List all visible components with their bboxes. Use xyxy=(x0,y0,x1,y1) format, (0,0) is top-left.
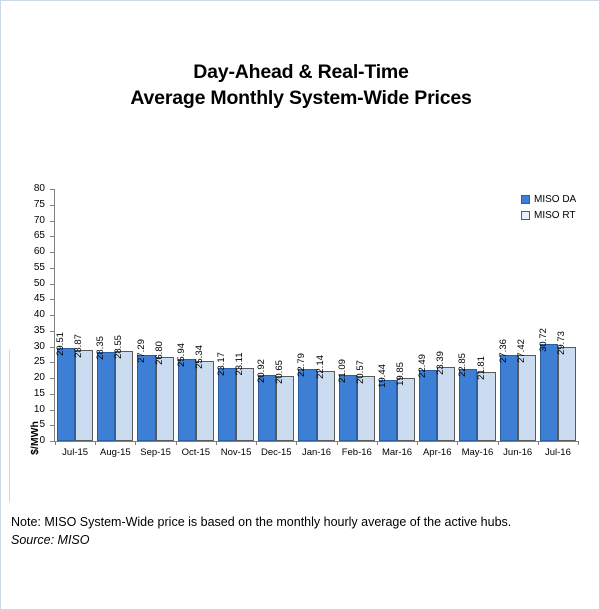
legend-swatch-icon-rt xyxy=(521,211,530,220)
bar-miso-da[interactable]: 25.94 xyxy=(178,359,196,441)
y-axis-tick-label: 30 xyxy=(34,340,45,353)
x-axis-tick-mark xyxy=(135,441,136,445)
y-axis-tick-label: 75 xyxy=(34,198,45,211)
bar-value-label: 22.85 xyxy=(457,353,468,377)
footer-notes: Note: MISO System-Wide price is based on… xyxy=(11,513,591,549)
x-axis-tick-mark xyxy=(377,441,378,445)
x-axis-tick-mark xyxy=(578,441,579,445)
bar-value-label: 28.87 xyxy=(73,334,84,358)
bar-value-label: 29.51 xyxy=(55,332,66,356)
y-axis-tick-label: 5 xyxy=(39,418,45,431)
y-axis-tick: 60 xyxy=(9,252,54,253)
bar-value-label: 27.42 xyxy=(516,339,527,363)
y-axis-tick-label: 60 xyxy=(34,245,45,258)
bar-miso-da[interactable]: 28.35 xyxy=(97,352,115,441)
x-axis-label: Nov-15 xyxy=(216,447,256,458)
x-axis-labels: Jul-15Aug-15Sep-15Oct-15Nov-15Dec-15Jan-… xyxy=(55,447,578,458)
x-axis-label: Mar-16 xyxy=(377,447,417,458)
y-axis-tick: 55 xyxy=(9,268,54,269)
bar-value-label: 20.65 xyxy=(274,360,285,384)
y-axis-tick-label: 50 xyxy=(34,277,45,290)
chart-container: $/MWh 80757065605550454035302520151050 2… xyxy=(9,151,593,496)
y-axis-tick-label: 70 xyxy=(34,214,45,227)
y-axis-tick: 15 xyxy=(9,394,54,395)
y-axis-tick: 30 xyxy=(9,347,54,348)
y-axis-tick: 70 xyxy=(9,221,54,222)
bar-miso-rt[interactable]: 20.65 xyxy=(276,376,294,441)
x-axis-tick-mark xyxy=(95,441,96,445)
bar-miso-rt[interactable]: 20.57 xyxy=(357,376,375,441)
bar-miso-da[interactable]: 22.49 xyxy=(419,370,437,441)
y-axis-tick-label: 15 xyxy=(34,387,45,400)
y-axis-tick: 5 xyxy=(9,425,54,426)
bar-value-label: 26.80 xyxy=(154,341,165,365)
bar-value-label: 28.55 xyxy=(113,335,124,359)
x-axis-tick-mark xyxy=(296,441,297,445)
legend-swatch-icon-da xyxy=(521,195,530,204)
x-axis-label: Apr-16 xyxy=(417,447,457,458)
bar-miso-rt[interactable]: 23.39 xyxy=(437,367,455,441)
bar-value-label: 21.09 xyxy=(337,359,348,383)
x-axis-tick-mark xyxy=(176,441,177,445)
y-axis-tick: 10 xyxy=(9,410,54,411)
bar-miso-da[interactable]: 20.92 xyxy=(258,375,276,441)
legend-label-da: MISO DA xyxy=(534,194,576,205)
bar-group: 20.9220.65 xyxy=(256,189,296,441)
bar-value-label: 22.49 xyxy=(417,354,428,378)
x-axis-label: Feb-16 xyxy=(337,447,377,458)
x-axis-tick-mark xyxy=(417,441,418,445)
y-axis-tick-label: 80 xyxy=(34,182,45,195)
x-axis-tick-mark xyxy=(337,441,338,445)
bar-group: 22.7922.14 xyxy=(296,189,336,441)
bar-miso-rt[interactable]: 25.34 xyxy=(196,361,214,441)
x-axis-tick-mark xyxy=(55,441,56,445)
bar-miso-rt[interactable]: 26.80 xyxy=(156,357,174,441)
bar-value-label: 27.36 xyxy=(498,339,509,363)
y-axis-tick-label: 10 xyxy=(34,403,45,416)
page-title: Day-Ahead & Real-Time Average Monthly Sy… xyxy=(1,59,600,111)
x-axis-label: Dec-15 xyxy=(256,447,296,458)
x-axis-label: Jan-16 xyxy=(296,447,336,458)
bar-value-label: 19.85 xyxy=(395,363,406,387)
title-line-2: Average Monthly System-Wide Prices xyxy=(1,85,600,111)
section-divider xyxy=(9,350,10,502)
bar-miso-da[interactable]: 29.51 xyxy=(57,348,75,441)
bar-group: 28.3528.55 xyxy=(95,189,135,441)
bar-value-label: 23.39 xyxy=(435,351,446,375)
bar-miso-rt[interactable]: 27.42 xyxy=(518,355,536,441)
y-axis-tick: 0 xyxy=(9,441,54,442)
bar-group: 22.4923.39 xyxy=(417,189,457,441)
y-axis-tick: 45 xyxy=(9,299,54,300)
legend-label-rt: MISO RT xyxy=(534,210,575,221)
bar-miso-rt[interactable]: 28.87 xyxy=(75,350,93,441)
chart-legend: MISO DA MISO RT xyxy=(521,191,600,223)
bar-value-label: 21.81 xyxy=(476,356,487,380)
y-axis-tick: 20 xyxy=(9,378,54,379)
bar-group: 19.4419.85 xyxy=(377,189,417,441)
x-axis-tick-mark xyxy=(538,441,539,445)
x-axis-label: Jul-15 xyxy=(55,447,95,458)
legend-item-miso-rt[interactable]: MISO RT xyxy=(521,207,600,223)
bar-miso-da[interactable]: 27.29 xyxy=(137,355,155,441)
bar-value-label: 25.34 xyxy=(194,345,205,369)
bar-value-label: 23.17 xyxy=(216,352,227,376)
x-axis-tick-mark xyxy=(216,441,217,445)
bar-value-label: 22.79 xyxy=(296,353,307,377)
bar-value-label: 20.92 xyxy=(256,359,267,383)
source-text: Source: MISO xyxy=(11,531,591,549)
legend-item-miso-da[interactable]: MISO DA xyxy=(521,191,600,207)
y-axis-tick-label: 65 xyxy=(34,229,45,242)
y-axis-tick-label: 45 xyxy=(34,292,45,305)
y-axis-tick-label: 40 xyxy=(34,308,45,321)
y-axis-tick: 50 xyxy=(9,284,54,285)
bar-group: 30.7229.73 xyxy=(538,189,578,441)
x-axis-tick-mark xyxy=(256,441,257,445)
bar-miso-da[interactable]: 27.36 xyxy=(500,355,518,441)
y-axis-tick-label: 20 xyxy=(34,371,45,384)
bar-value-label: 25.94 xyxy=(176,343,187,367)
bar-group: 29.5128.87 xyxy=(55,189,95,441)
bar-miso-da[interactable]: 21.09 xyxy=(339,375,357,441)
y-axis-tick-label: 55 xyxy=(34,261,45,274)
bar-value-label: 23.11 xyxy=(234,353,245,376)
chart-page: Day-Ahead & Real-Time Average Monthly Sy… xyxy=(0,0,600,610)
bar-miso-rt[interactable]: 22.14 xyxy=(317,371,335,441)
y-axis-tick: 65 xyxy=(9,236,54,237)
bar-group: 27.3627.42 xyxy=(498,189,538,441)
title-line-1: Day-Ahead & Real-Time xyxy=(1,59,600,85)
bar-groups: 29.5128.8728.3528.5527.2926.8025.9425.34… xyxy=(55,189,578,441)
bar-miso-rt[interactable]: 19.85 xyxy=(397,378,415,441)
bar-value-label: 27.29 xyxy=(136,339,147,363)
note-text: Note: MISO System-Wide price is based on… xyxy=(11,513,591,531)
bar-miso-rt[interactable]: 28.55 xyxy=(115,351,133,441)
y-axis-tick: 25 xyxy=(9,362,54,363)
bar-group: 25.9425.34 xyxy=(176,189,216,441)
bar-value-label: 29.73 xyxy=(556,331,567,355)
bar-miso-da[interactable]: 22.79 xyxy=(298,369,316,441)
bar-miso-da[interactable]: 30.72 xyxy=(540,344,558,441)
bar-miso-rt[interactable]: 21.81 xyxy=(477,372,495,441)
bar-group: 23.1723.11 xyxy=(216,189,256,441)
bar-group: 27.2926.80 xyxy=(135,189,175,441)
x-axis-tick-mark xyxy=(498,441,499,445)
y-axis-tick: 75 xyxy=(9,205,54,206)
bar-value-label: 22.14 xyxy=(315,355,326,379)
y-axis-tick: 80 xyxy=(9,189,54,190)
y-axis-tick: 40 xyxy=(9,315,54,316)
bar-value-label: 19.44 xyxy=(377,364,388,388)
bar-miso-rt[interactable]: 23.11 xyxy=(236,368,254,441)
y-axis-tick-label: 25 xyxy=(34,355,45,368)
x-axis-tick-mark xyxy=(457,441,458,445)
bar-value-label: 30.72 xyxy=(538,328,549,352)
x-axis-label: Jun-16 xyxy=(498,447,538,458)
bar-miso-da[interactable]: 22.85 xyxy=(459,369,477,441)
bar-value-label: 28.35 xyxy=(95,336,106,360)
x-axis-label: Aug-15 xyxy=(95,447,135,458)
bar-miso-da[interactable]: 23.17 xyxy=(218,368,236,441)
x-axis-line xyxy=(54,441,578,442)
x-axis-label: Jul-16 xyxy=(538,447,578,458)
bar-miso-da[interactable]: 19.44 xyxy=(379,380,397,441)
bar-group: 22.8521.81 xyxy=(457,189,497,441)
x-axis-label: May-16 xyxy=(457,447,497,458)
y-axis-tick-label: 35 xyxy=(34,324,45,337)
y-axis-tick: 35 xyxy=(9,331,54,332)
x-axis-label: Sep-15 xyxy=(135,447,175,458)
bar-miso-rt[interactable]: 29.73 xyxy=(558,347,576,441)
bar-group: 21.0920.57 xyxy=(337,189,377,441)
bar-value-label: 20.57 xyxy=(355,360,366,384)
x-axis-label: Oct-15 xyxy=(176,447,216,458)
y-axis-tick-label: 0 xyxy=(39,434,45,447)
